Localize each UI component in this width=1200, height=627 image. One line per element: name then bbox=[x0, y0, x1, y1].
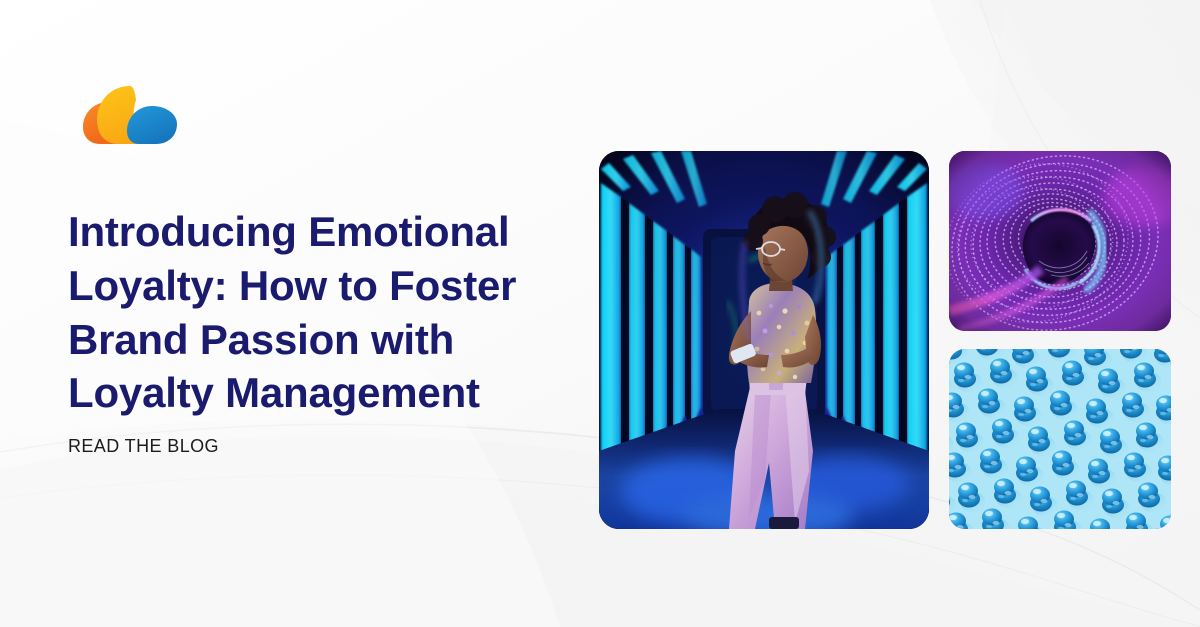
copy-block: Introducing Emotional Loyalty: How to Fo… bbox=[68, 205, 568, 458]
cloud-logo[interactable] bbox=[78, 82, 182, 148]
page-title: Introducing Emotional Loyalty: How to Fo… bbox=[68, 205, 568, 420]
image-collage bbox=[599, 151, 1171, 529]
read-the-blog-link[interactable]: READ THE BLOG bbox=[68, 436, 219, 458]
hero-image-neon-corridor[interactable] bbox=[599, 151, 929, 529]
blue-spheres-pattern[interactable] bbox=[949, 349, 1171, 529]
promo-banner: Introducing Emotional Loyalty: How to Fo… bbox=[0, 0, 1200, 627]
abstract-purple-vortex[interactable] bbox=[949, 151, 1171, 331]
